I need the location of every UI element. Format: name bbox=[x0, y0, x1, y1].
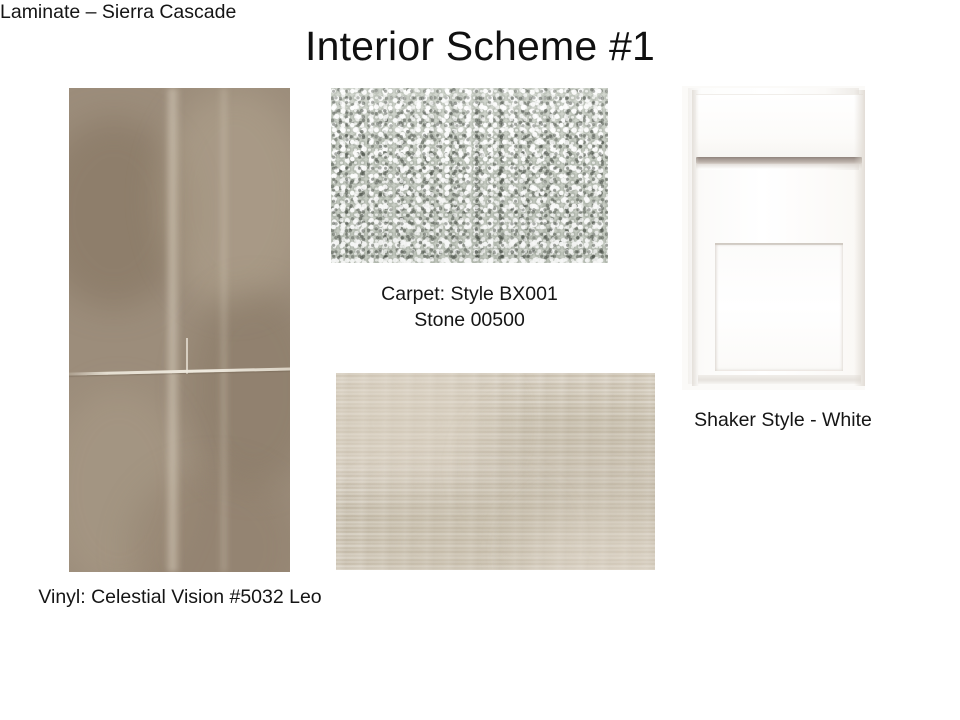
vinyl-caption: Vinyl: Celestial Vision #5032 Leo bbox=[0, 585, 360, 611]
carpet-swatch[interactable] bbox=[331, 88, 608, 263]
cabinet-caption: Shaker Style - White bbox=[660, 408, 906, 434]
interior-scheme-board: Interior Scheme #1 Vinyl: Celestial Visi… bbox=[0, 0, 960, 720]
laminate-mottle bbox=[336, 373, 496, 483]
cabinet-door-body bbox=[688, 88, 859, 384]
page-title: Interior Scheme #1 bbox=[0, 22, 960, 70]
laminate-swatch[interactable] bbox=[336, 373, 655, 570]
cabinet-panel-top-edge bbox=[715, 243, 843, 245]
cabinet-shaker-inset-panel bbox=[715, 243, 843, 371]
cabinet-drawer-face bbox=[696, 94, 863, 157]
laminate-caption: Laminate – Sierra Cascade bbox=[0, 0, 236, 26]
cabinet-reveal-shadow bbox=[696, 164, 862, 169]
vinyl-sap-streak bbox=[165, 88, 181, 572]
cabinet-right-shadow bbox=[854, 90, 865, 386]
carpet-caption: Carpet: Style BX001 Stone 00500 bbox=[331, 282, 608, 333]
vinyl-sap-streak bbox=[219, 88, 229, 572]
vinyl-plank-butt-joint bbox=[186, 338, 188, 374]
vinyl-plank-swatch[interactable] bbox=[69, 88, 290, 572]
vinyl-grain-blotch bbox=[189, 288, 290, 488]
carpet-sheen-overlay bbox=[331, 88, 608, 263]
cabinet-reveal-line bbox=[696, 157, 862, 164]
cabinet-left-shadow bbox=[692, 90, 699, 386]
cabinet-base-rail bbox=[698, 375, 861, 384]
cabinet-door-swatch[interactable] bbox=[682, 86, 865, 390]
